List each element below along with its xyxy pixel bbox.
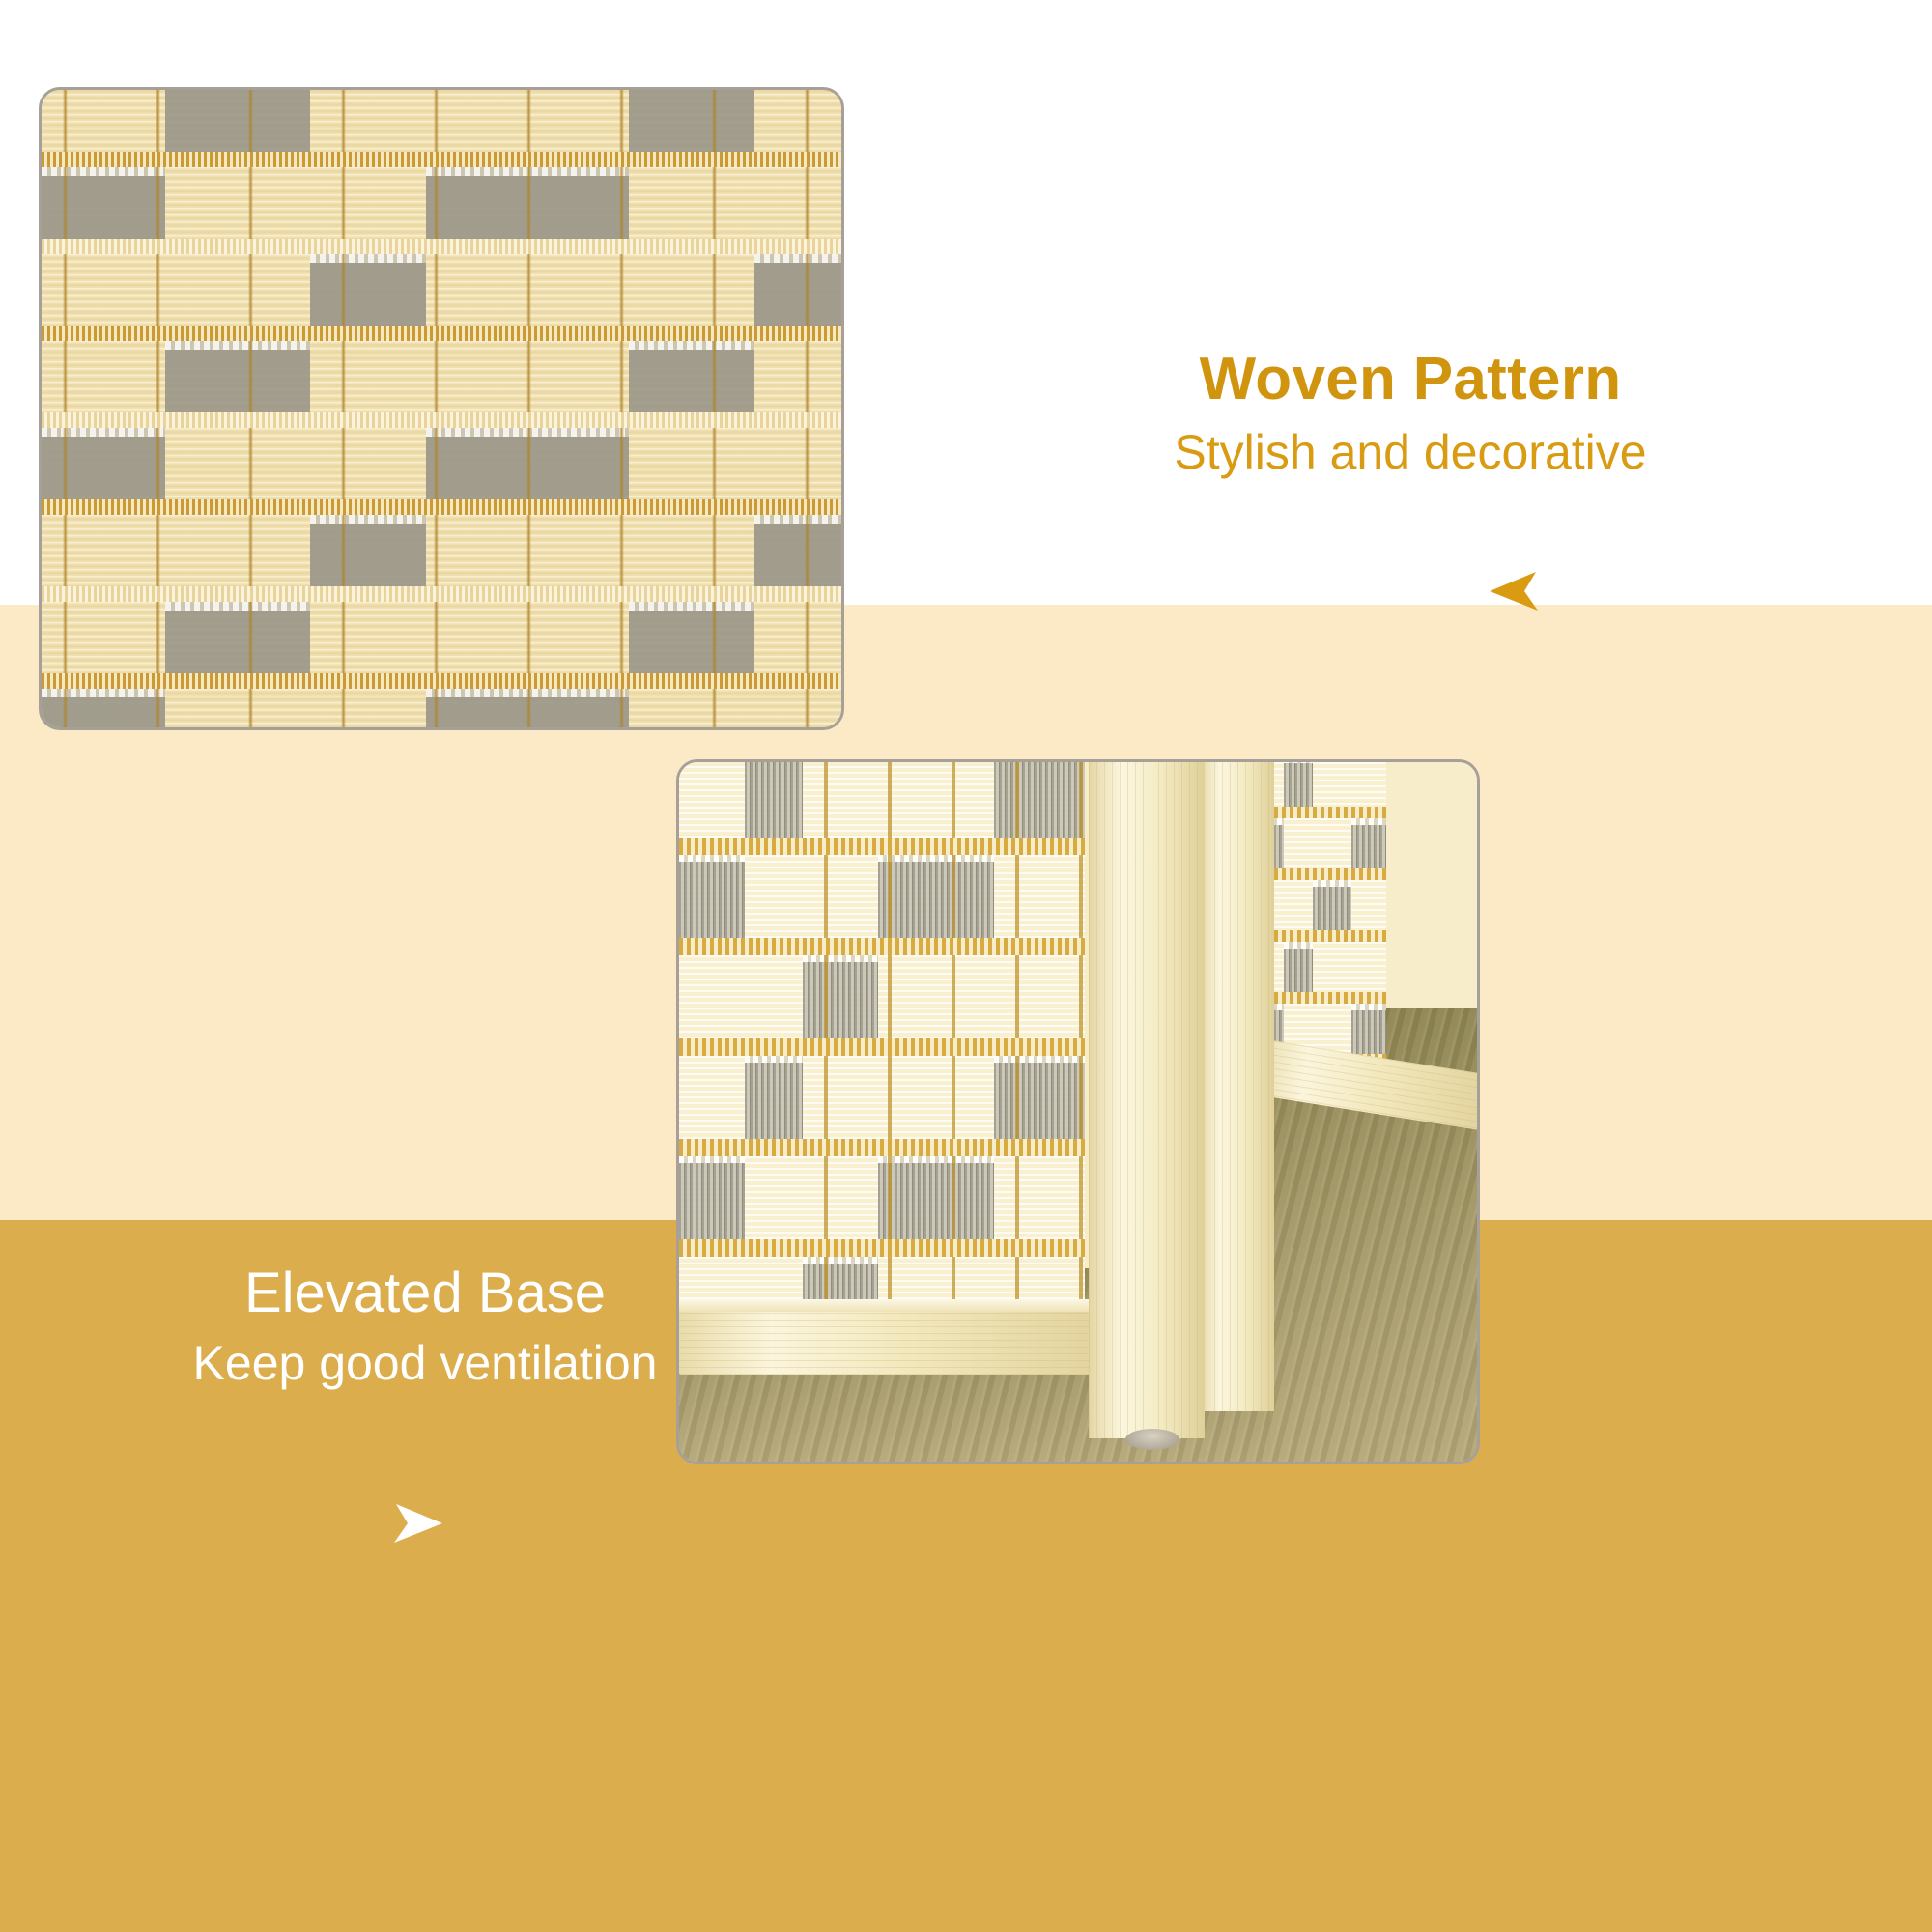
weave-tie [619, 689, 624, 730]
base-weave-block-grey [803, 955, 878, 1038]
weave-block-grey [629, 87, 754, 152]
base-weave-tie [888, 1056, 892, 1139]
front-leg [1089, 762, 1205, 1438]
weave-tie [805, 254, 810, 326]
weave-tie [712, 689, 717, 730]
weave-course [42, 602, 841, 673]
weave-tie [434, 689, 439, 730]
weave-tie [526, 689, 531, 730]
weave-tie [63, 254, 68, 326]
base-weave-course [679, 855, 1085, 938]
base-weave-tie [1015, 762, 1019, 838]
weave-course [42, 167, 841, 239]
weave-tie [526, 602, 531, 673]
bottom-rail-top-edge [679, 1299, 1096, 1312]
weave-tie [712, 602, 717, 673]
weave-tie [619, 515, 624, 586]
weave-tie [526, 87, 531, 152]
base-weave-binding-strip [679, 1139, 1085, 1156]
weave-block-grey [42, 428, 165, 499]
base-photo-scene [679, 762, 1477, 1462]
base-weave-binding-strip [679, 1038, 1085, 1056]
weave-tie [712, 341, 717, 412]
base-weave-tie [1015, 855, 1019, 938]
weave-tie [434, 87, 439, 152]
weave-block-grey [754, 515, 841, 586]
weave-course [42, 341, 841, 412]
weave-tie [156, 341, 160, 412]
weave-tie [248, 87, 253, 152]
weave-tie [248, 602, 253, 673]
base-weave-block-grey [994, 762, 1085, 838]
weave-block-grey [310, 254, 426, 326]
weave-binding-strip [42, 499, 841, 515]
weave-course [42, 428, 841, 499]
base-weave-block-grey [878, 1156, 994, 1239]
weave-tie [156, 428, 160, 499]
weave-tie [619, 87, 624, 152]
weave-tie [63, 689, 68, 730]
weave-course [42, 254, 841, 326]
weave-tie [156, 515, 160, 586]
weave-tie [341, 689, 346, 730]
base-weave-tie [1079, 1056, 1083, 1139]
base-weave-binding-strip [679, 938, 1085, 955]
weave-block-grey [629, 341, 754, 412]
base-weave-tie [1015, 955, 1019, 1038]
base-weave-tie [888, 762, 892, 838]
weave-course [42, 87, 841, 152]
base-weave-tie [824, 762, 828, 838]
weave-course [42, 515, 841, 586]
base-weave-block-grey [878, 855, 994, 938]
weave-tie [248, 341, 253, 412]
base-weave-block-grey-right [1351, 818, 1386, 868]
arrow-left-icon [1488, 570, 1546, 612]
weave-tie [63, 602, 68, 673]
leg-foot-pad [1125, 1429, 1179, 1450]
weave-tie [712, 515, 717, 586]
base-weave-block-grey-right [1284, 942, 1313, 992]
weave-block-grey [42, 689, 165, 730]
weave-course [42, 689, 841, 730]
base-weave-tie [824, 1056, 828, 1139]
weave-tie [526, 515, 531, 586]
elevated-base-photo [676, 759, 1480, 1464]
weave-tie [63, 515, 68, 586]
weave-tie [619, 602, 624, 673]
weave-tie [341, 254, 346, 326]
base-weave-block-grey [745, 762, 803, 838]
weave-block-grey [754, 254, 841, 326]
weave-tie [341, 602, 346, 673]
weave-block-grey [165, 341, 310, 412]
elevated-base-caption: Elevated Base Keep good ventilation [87, 1264, 763, 1392]
base-weave-tie [1079, 762, 1083, 838]
weave-block-grey [165, 87, 310, 152]
bamboo-weave-texture [42, 90, 841, 727]
weave-tie [156, 254, 160, 326]
weave-tie [805, 602, 810, 673]
weave-tie [156, 689, 160, 730]
weave-tie [248, 689, 253, 730]
base-weave-binding-strip [679, 1239, 1085, 1257]
weave-block-grey [310, 515, 426, 586]
weave-tie [248, 515, 253, 586]
base-weave-tie [1079, 1156, 1083, 1239]
woven-pattern-caption: Woven Pattern Stylish and decorative [966, 348, 1855, 480]
weave-tie [156, 87, 160, 152]
woven-pattern-photo [39, 87, 844, 730]
weave-tie [526, 254, 531, 326]
weave-tie [619, 341, 624, 412]
bamboo-slat [42, 254, 841, 326]
rear-leg [1199, 762, 1274, 1411]
weave-tie [434, 602, 439, 673]
infographic-canvas: Woven Pattern Stylish and decorative Ele… [0, 0, 1932, 1932]
weave-tie [805, 428, 810, 499]
weave-tie [341, 515, 346, 586]
woven-pattern-subtitle: Stylish and decorative [966, 425, 1855, 481]
weave-tie [805, 167, 810, 239]
base-weave-course [679, 955, 1085, 1038]
weave-tie [526, 167, 531, 239]
weave-tie [341, 428, 346, 499]
arrow-right-icon [386, 1502, 444, 1545]
weave-binding-strip [42, 412, 841, 428]
bamboo-slat [42, 515, 841, 586]
weave-tie [63, 428, 68, 499]
weave-tie [434, 254, 439, 326]
base-weave-block-grey-right [1313, 880, 1351, 930]
weave-tie [619, 254, 624, 326]
weave-binding-strip [42, 239, 841, 254]
weave-tie [156, 602, 160, 673]
weave-tie [619, 167, 624, 239]
weave-tie [526, 428, 531, 499]
weave-binding-strip [42, 326, 841, 341]
base-weave-tie [1015, 1156, 1019, 1239]
weave-tie [805, 515, 810, 586]
base-weave-course [679, 1156, 1085, 1239]
base-weave-block-grey [679, 1156, 745, 1239]
base-weave-tie [1079, 855, 1083, 938]
base-weave-tie [952, 1056, 955, 1139]
weave-tie [805, 341, 810, 412]
weave-tie [526, 341, 531, 412]
weave-tie [248, 428, 253, 499]
elevated-base-title: Elevated Base [87, 1264, 763, 1322]
elevated-base-subtitle: Keep good ventilation [87, 1336, 763, 1392]
weave-tie [434, 341, 439, 412]
weave-tie [805, 87, 810, 152]
base-weave-tie [824, 955, 828, 1038]
weave-tie [805, 689, 810, 730]
woven-pattern-title: Woven Pattern [966, 348, 1855, 412]
weave-tie [248, 254, 253, 326]
base-weave-tie [888, 1156, 892, 1239]
weave-tie [341, 87, 346, 152]
weave-tie [156, 167, 160, 239]
weave-block-grey [629, 602, 754, 673]
weave-tie [341, 167, 346, 239]
base-weave-tie [888, 855, 892, 938]
weave-binding-strip [42, 152, 841, 167]
base-weave-binding-strip [679, 838, 1085, 855]
base-weave-tie [952, 955, 955, 1038]
weave-tie [63, 167, 68, 239]
weave-tie [619, 428, 624, 499]
weave-block-grey [42, 167, 165, 239]
weave-tie [434, 428, 439, 499]
weave-tie [712, 428, 717, 499]
weave-tie [248, 167, 253, 239]
base-weave-tie [1079, 955, 1083, 1038]
base-weave-tie [952, 1156, 955, 1239]
base-bamboo-slat [679, 955, 1085, 1038]
base-weave-block-grey [679, 855, 745, 938]
weave-tie [341, 341, 346, 412]
weave-tie [63, 341, 68, 412]
base-weave-block-grey-right [1284, 762, 1313, 807]
weave-tie [712, 254, 717, 326]
base-weave-tie [1015, 1056, 1019, 1139]
base-weave-block-grey [994, 1056, 1085, 1139]
weave-tie [712, 87, 717, 152]
base-weave-tie [824, 855, 828, 938]
base-weave-course [679, 1056, 1085, 1139]
weave-tie [434, 515, 439, 586]
base-weave-tie [952, 855, 955, 938]
weave-binding-strip [42, 586, 841, 602]
base-weave-block-grey [745, 1056, 803, 1139]
base-weave-course [679, 762, 1085, 838]
base-weave-tie [952, 762, 955, 838]
weave-tie [63, 87, 68, 152]
weave-tie [712, 167, 717, 239]
weave-tie [434, 167, 439, 239]
weave-block-grey [165, 602, 310, 673]
base-weave-block-grey-right [1351, 1004, 1386, 1054]
weave-binding-strip [42, 673, 841, 689]
base-weave-tie [888, 955, 892, 1038]
base-weave-tie [824, 1156, 828, 1239]
